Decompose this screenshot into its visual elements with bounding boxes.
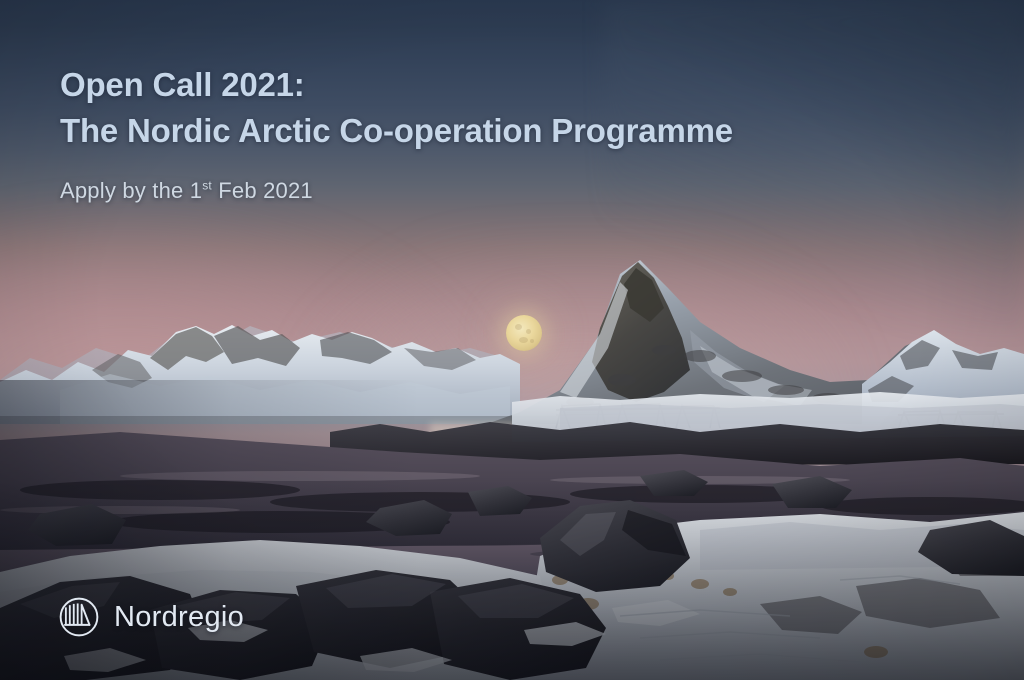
nordregio-circle-mark bbox=[58, 596, 100, 638]
deadline-ordinal-suffix: st bbox=[202, 179, 212, 193]
headline: Open Call 2021: The Nordic Arctic Co-ope… bbox=[60, 62, 733, 154]
nordregio-logo[interactable]: Nordregio bbox=[58, 596, 244, 638]
deadline-prefix: Apply by the 1 bbox=[60, 178, 202, 203]
deadline-text: Apply by the 1st Feb 2021 bbox=[60, 178, 313, 204]
headline-line-1: Open Call 2021: bbox=[60, 62, 733, 108]
deadline-suffix: Feb 2021 bbox=[212, 178, 313, 203]
headline-line-2: The Nordic Arctic Co-operation Programme bbox=[60, 108, 733, 154]
open-call-banner: Open Call 2021: The Nordic Arctic Co-ope… bbox=[0, 0, 1024, 680]
nordregio-wordmark: Nordregio bbox=[114, 601, 244, 634]
